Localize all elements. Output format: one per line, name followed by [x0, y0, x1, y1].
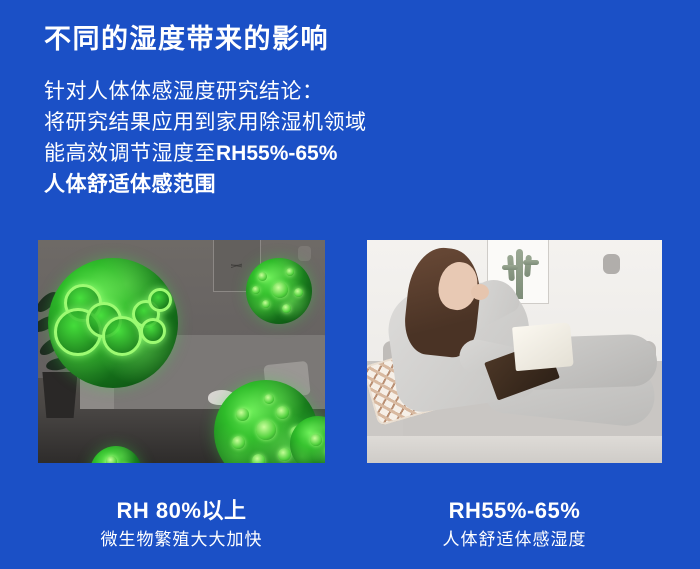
- microbe-blob: [148, 288, 172, 312]
- microbe-blob: [140, 318, 166, 344]
- microbe-nub: [106, 456, 117, 463]
- microbe-nub: [232, 436, 245, 449]
- microbe-nub: [256, 420, 276, 440]
- microbe-nub: [236, 408, 249, 421]
- cactus-stem: [516, 249, 523, 299]
- microbe-nub: [262, 300, 270, 308]
- body-line-3-highlight: RH55%-65%: [216, 142, 337, 165]
- microbe-nub: [258, 272, 267, 281]
- microbe-nub: [276, 406, 289, 419]
- page-title: 不同的湿度带来的影响: [44, 17, 329, 56]
- microbe-nub: [286, 268, 294, 276]
- bright-floor: [367, 436, 662, 463]
- microbe-nub: [282, 304, 291, 313]
- caption-left-subtext: 微生物繁殖大大加快: [38, 529, 325, 550]
- caption-high-humidity: RH 80%以上 微生物繁殖大大加快: [38, 498, 325, 550]
- caption-comfort-humidity: RH55%-65% 人体舒适体感湿度: [367, 498, 662, 550]
- caption-right-headline: RH55%-65%: [367, 498, 662, 524]
- photo-panel-comfort-humidity: [367, 240, 662, 463]
- body-line-3: 能高效调节湿度至RH55%-65%: [44, 138, 367, 169]
- dark-room-scene: [38, 240, 325, 463]
- microbe-nub: [264, 394, 274, 404]
- microbe-nub: [252, 286, 260, 294]
- microbe-sphere-small-right: [290, 416, 325, 463]
- microbe-nub: [294, 288, 303, 297]
- cactus-arm: [523, 260, 539, 265]
- microbe-sphere-small-bottom: [90, 446, 142, 463]
- photo-panel-high-humidity: [38, 240, 325, 463]
- body-line-4: 人体舒适体感范围: [44, 169, 367, 200]
- body-line-3-prefix: 能高效调节湿度至: [44, 142, 216, 165]
- cactus-arm: [524, 255, 532, 277]
- microbe-nub: [272, 282, 288, 298]
- book-page: [512, 322, 574, 371]
- body-copy: 针对人体体感湿度研究结论： 将研究结果应用到家用除湿机领域 能高效调节湿度至RH…: [44, 76, 367, 200]
- caption-left-headline: RH 80%以上: [38, 498, 325, 524]
- cactus-arm: [502, 265, 518, 270]
- bright-room-scene: [367, 240, 662, 463]
- microbe-sphere-medium: [246, 258, 312, 324]
- microbe-nub: [310, 434, 322, 446]
- body-line-2: 将研究结果应用到家用除湿机领域: [44, 107, 367, 138]
- body-line-1: 针对人体体感湿度研究结论：: [44, 76, 367, 107]
- microbe-nub: [252, 454, 265, 463]
- woman-hand-at-face: [471, 284, 489, 300]
- wall-sconce-icon: [603, 254, 620, 274]
- humidity-effects-poster: 不同的湿度带来的影响 针对人体体感湿度研究结论： 将研究结果应用到家用除湿机领域…: [0, 0, 700, 569]
- caption-right-subtext: 人体舒适体感湿度: [367, 529, 662, 550]
- microbe-sphere-large: [48, 258, 178, 388]
